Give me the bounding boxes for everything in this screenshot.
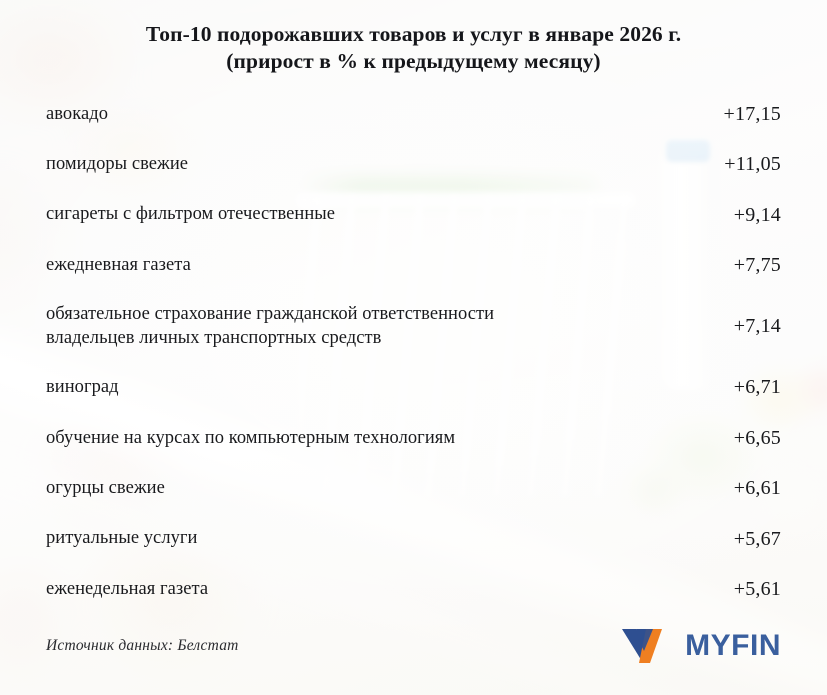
ranking-row: ритуальные услуги+5,67 [46, 514, 783, 564]
item-value: +5,67 [685, 528, 783, 551]
title-line-1: Топ-10 подорожавших товаров и услуг в ян… [60, 21, 767, 48]
item-value: +6,71 [685, 376, 783, 399]
ranking-row: авокадо+17,15 [46, 89, 783, 139]
footer: Источник данных: Белстат MYFIN [0, 615, 827, 695]
item-label: ритуальные услуги [46, 527, 198, 551]
item-value: +7,75 [685, 254, 783, 277]
item-label: виноград [46, 376, 119, 400]
item-value: +6,61 [685, 477, 783, 500]
item-value: +7,14 [685, 315, 783, 338]
item-label: авокадо [46, 103, 108, 127]
ranking-row: сигареты с фильтром отечественные+9,14 [46, 190, 783, 240]
item-label: еженедельная газета [46, 578, 208, 602]
item-value: +6,65 [685, 427, 783, 450]
item-label: ежедневная газета [46, 254, 191, 278]
ranking-row: еженедельная газета+5,61 [46, 565, 783, 615]
content-area: Топ-10 подорожавших товаров и услуг в ян… [0, 0, 827, 695]
infographic-root: Топ-10 подорожавших товаров и услуг в ян… [0, 0, 827, 695]
item-label: обучение на курсах по компьютерным техно… [46, 427, 455, 451]
myfin-logo[interactable]: MYFIN [622, 627, 803, 665]
ranking-list: авокадо+17,15помидоры свежие+11,05сигаре… [0, 89, 827, 615]
page-title: Топ-10 подорожавших товаров и услуг в ян… [0, 0, 827, 75]
item-label: сигареты с фильтром отечественные [46, 203, 335, 227]
item-label: огурцы свежие [46, 477, 165, 501]
source-note: Источник данных: Белстат [46, 637, 239, 655]
ranking-row: огурцы свежие+6,61 [46, 464, 783, 514]
ranking-row: виноград+6,71 [46, 363, 783, 413]
ranking-row: обязательное страхование гражданской отв… [46, 291, 783, 363]
item-value: +11,05 [685, 153, 783, 176]
myfin-logo-text: MYFIN [685, 631, 781, 661]
title-line-2: (прирост в % к предыдущему месяцу) [60, 48, 767, 75]
item-value: +9,14 [685, 204, 783, 227]
ranking-row: обучение на курсах по компьютерным техно… [46, 413, 783, 463]
item-label: обязательное страхование гражданской отв… [46, 303, 494, 350]
ranking-row: помидоры свежие+11,05 [46, 140, 783, 190]
item-value: +17,15 [685, 103, 783, 126]
ranking-row: ежедневная газета+7,75 [46, 241, 783, 291]
item-label: помидоры свежие [46, 153, 188, 177]
item-value: +5,61 [685, 578, 783, 601]
myfin-v-logo-icon [622, 627, 676, 665]
